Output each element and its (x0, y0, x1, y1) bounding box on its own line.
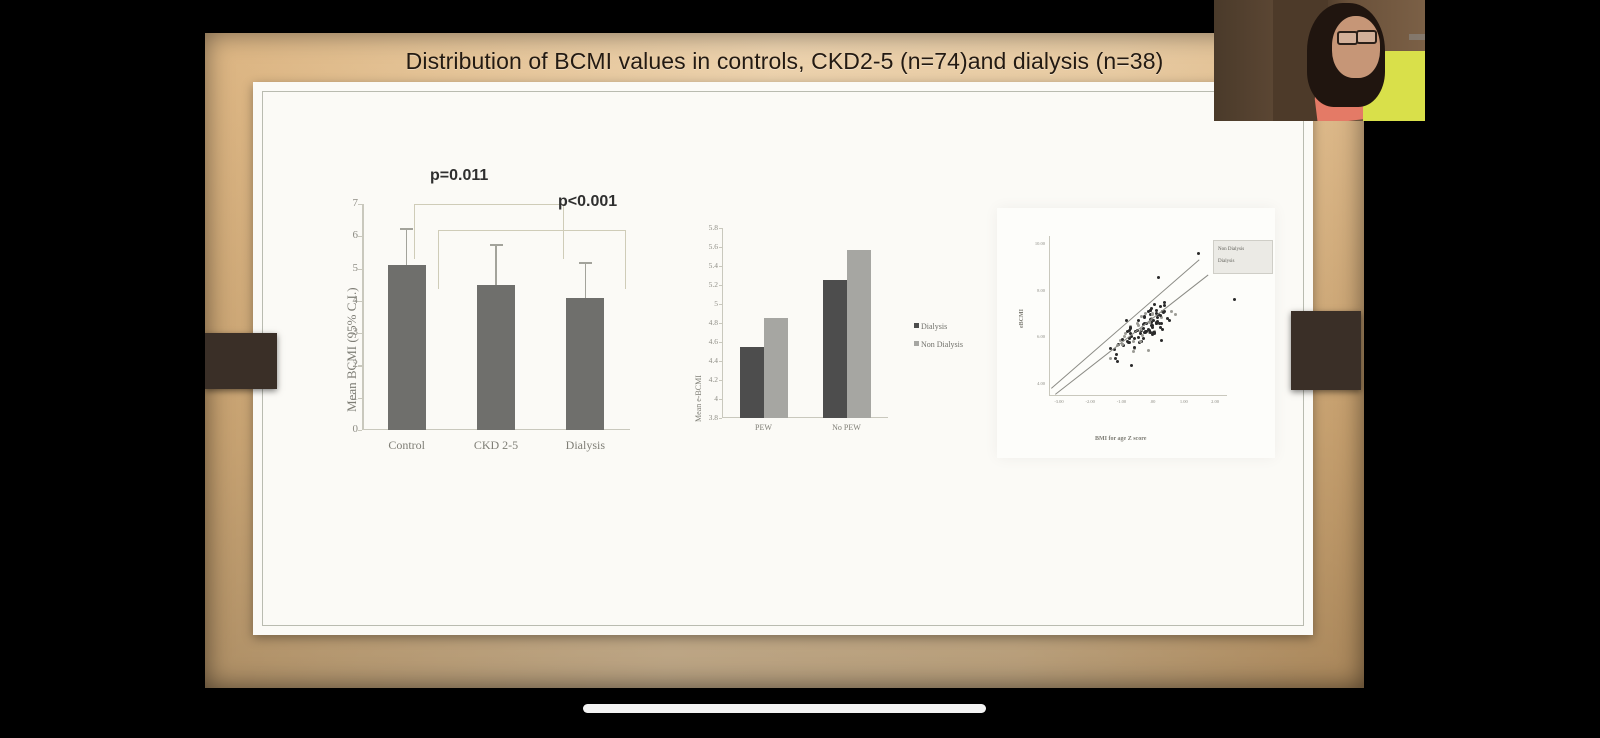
video-frame: Distribution of BCMI values in controls,… (0, 0, 1600, 738)
chart3-point (1159, 326, 1162, 329)
home-indicator[interactable] (583, 704, 986, 713)
chart2-legend-swatch (914, 323, 919, 328)
chart3-x-tick: 1.00 (1175, 399, 1193, 404)
chart1-y-tickmark (358, 236, 362, 237)
chart3-y-tick: 4.00 (1027, 381, 1045, 386)
chart3-point (1144, 331, 1147, 334)
chart2-y-tick: 4.4 (702, 356, 718, 365)
chart2-y-tickmark (719, 380, 722, 381)
chart2-bar (823, 280, 847, 418)
chart3-point (1129, 327, 1132, 330)
chart2-y-tick: 5 (702, 299, 718, 308)
page-title: Distribution of BCMI values in controls,… (205, 40, 1364, 82)
chart2-y-tick: 4.8 (702, 318, 718, 327)
chart3-x-tick: .00 (1144, 399, 1162, 404)
webcam-glasses-left (1337, 31, 1358, 45)
chart3-point (1133, 346, 1136, 349)
chart2-y-tick: 5.8 (702, 223, 718, 232)
chart3-point (1130, 364, 1133, 367)
furniture-block-left (205, 333, 277, 389)
chart1-y-tick: 0 (346, 423, 358, 435)
chart3-y-axis (1049, 236, 1050, 396)
chart2-y-tickmark (719, 361, 722, 362)
chart2-y-axis (722, 228, 723, 418)
chart3-legend-entry-0: Non Dialysis (1218, 247, 1244, 252)
chart3-point (1153, 303, 1156, 306)
chart3-legend: Non Dialysis Dialysis (1213, 240, 1273, 274)
chart1-y-tick: 5 (346, 262, 358, 274)
chart2-y-tickmark (719, 418, 722, 419)
chart1-category-label: CKD 2-5 (451, 438, 541, 453)
chart2-legend-swatch (914, 341, 919, 346)
chart2-y-tick: 5.4 (702, 261, 718, 270)
chart3-point (1147, 349, 1150, 352)
webcam-face (1332, 16, 1380, 78)
chart1-y-tickmark (358, 398, 362, 399)
chart-ebcmi-vs-bmi-zscore: eBCMI BMI for age Z score 10.008.006.004… (997, 208, 1275, 458)
webcam-wall-marking (1409, 34, 1425, 40)
chart1-category-label: Dialysis (540, 438, 630, 453)
chart3-point (1137, 336, 1140, 339)
chart1-y-tick: 7 (346, 197, 358, 209)
chart3-point (1132, 340, 1135, 343)
chart3-point (1160, 339, 1163, 342)
chart1-y-axis (362, 204, 364, 430)
chart2-y-tick: 4.6 (702, 337, 718, 346)
chart3-point (1121, 343, 1124, 346)
chart1-bar (477, 285, 515, 430)
chart3-trendline-1 (1051, 259, 1200, 388)
chart3-x-tick: -1.00 (1112, 399, 1130, 404)
chart3-point (1139, 340, 1142, 343)
chart2-y-tickmark (719, 285, 722, 286)
chart1-y-tick: 1 (346, 391, 358, 403)
chart3-point (1142, 327, 1145, 330)
chart1-pvalue-2: p<0.001 (558, 193, 617, 211)
chart3-point (1168, 319, 1171, 322)
chart1-bar (566, 298, 604, 430)
chart2-legend-entry: Non Dialysis (914, 340, 963, 349)
chart3-y-tick: 6.00 (1027, 334, 1045, 339)
chart1-y-tickmark (358, 204, 362, 205)
chart2-bar (740, 347, 764, 418)
chart-mean-bcmi-by-group: Mean BCMI (95% C.I.) 01234567 ControlCKD… (330, 160, 660, 460)
chart2-y-tickmark (719, 304, 722, 305)
chart3-point (1116, 360, 1119, 363)
chart3-x-tick: -2.00 (1081, 399, 1099, 404)
chart2-category-label: PEW (734, 423, 794, 432)
chart3-y-axis-title: eBCMI (1019, 309, 1025, 328)
chart1-y-tickmark (358, 269, 362, 270)
chart2-y-tick: 5.2 (702, 280, 718, 289)
chart2-y-tick: 5.6 (702, 242, 718, 251)
chart3-point (1132, 350, 1135, 353)
chart3-point (1174, 313, 1177, 316)
chart2-legend-label: Non Dialysis (921, 340, 963, 349)
presenter-webcam-tile[interactable] (1214, 0, 1425, 121)
chart3-point-outlier (1197, 252, 1200, 255)
chart2-y-tickmark (719, 247, 722, 248)
chart3-trendline-2 (1055, 275, 1208, 395)
chart2-y-tickmark (719, 342, 722, 343)
furniture-block-right (1291, 311, 1361, 390)
chart3-point-outlier (1233, 298, 1236, 301)
chart2-y-tick: 3.8 (702, 413, 718, 422)
chart3-point (1159, 305, 1162, 308)
chart2-legend-label: Dialysis (921, 322, 947, 331)
chart3-point (1109, 357, 1112, 360)
chart1-y-tickmark (358, 430, 362, 431)
chart1-y-tickmark (358, 365, 362, 366)
chart3-point (1148, 329, 1151, 332)
chart3-point (1160, 322, 1163, 325)
chart2-bar (764, 318, 788, 418)
chart3-point (1126, 340, 1129, 343)
bottom-bar (0, 688, 1600, 738)
chart3-x-axis-title: BMI for age Z score (1095, 436, 1146, 442)
chart1-y-tick: 6 (346, 229, 358, 241)
chart1-y-tick: 3 (346, 326, 358, 338)
chart1-bar (388, 265, 426, 430)
chart3-y-tick: 10.00 (1027, 241, 1045, 246)
chart2-legend-entry: Dialysis (914, 322, 947, 331)
chart1-category-label: Control (362, 438, 452, 453)
chart2-y-tickmark (719, 399, 722, 400)
chart3-point (1143, 315, 1146, 318)
chart3-x-tick: -3.00 (1050, 399, 1068, 404)
chart2-bar (847, 250, 871, 418)
chart2-category-label: No PEW (817, 423, 877, 432)
chart3-point (1133, 337, 1136, 340)
chart1-error-bar (406, 228, 408, 265)
chart3-point (1170, 310, 1173, 313)
chart2-plot-area: 3.844.24.44.64.855.25.45.65.8 PEWNo PEW (722, 228, 888, 418)
chart3-x-axis (1049, 395, 1227, 396)
chart3-y-tick: 8.00 (1027, 288, 1045, 293)
chart1-y-tick: 2 (346, 358, 358, 370)
chart2-y-tickmark (719, 228, 722, 229)
chart2-y-tick: 4.2 (702, 375, 718, 384)
chart3-x-tick: 2.00 (1206, 399, 1224, 404)
chart1-y-tickmark (358, 333, 362, 334)
chart3-point-outlier (1157, 276, 1160, 279)
chart2-y-tick: 4 (702, 394, 718, 403)
chart1-error-cap (400, 228, 413, 230)
chart3-plot-area: 10.008.006.004.00 -3.00-2.00-1.00.001.00… (1049, 236, 1227, 396)
chart-mean-ebcmi-by-pew: Mean e-BCMI 3.844.24.44.64.855.25.45.65.… (686, 222, 986, 444)
chart1-y-tick: 4 (346, 294, 358, 306)
chart3-legend-entry-1: Dialysis (1218, 259, 1234, 264)
chart2-y-tickmark (719, 266, 722, 267)
chart1-y-tickmark (358, 301, 362, 302)
chart1-pvalue-1: p=0.011 (430, 167, 488, 185)
chart3-point (1147, 310, 1150, 313)
chart3-point (1115, 353, 1118, 356)
chart2-y-tickmark (719, 323, 722, 324)
chart1-bracket-2 (438, 230, 626, 289)
webcam-glasses-right (1356, 30, 1377, 44)
chart3-point (1153, 331, 1156, 334)
chart3-point (1155, 321, 1158, 324)
